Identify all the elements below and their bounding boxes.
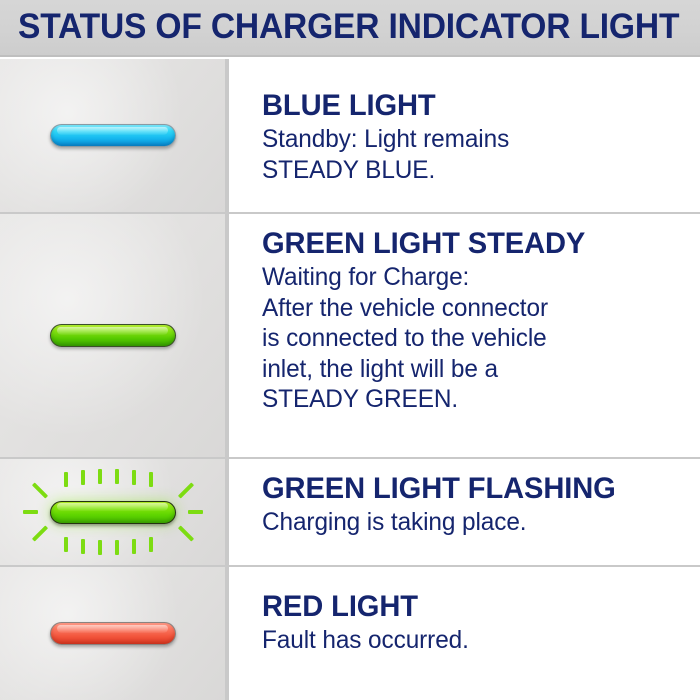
body-line: Standby: Light remains bbox=[262, 124, 675, 155]
description-cell-green-flashing: GREEN LIGHT FLASHING Charging is taking … bbox=[233, 459, 700, 565]
row-title: GREEN LIGHT STEADY bbox=[262, 228, 673, 259]
row-body: Standby: Light remains STEADY BLUE. bbox=[262, 124, 675, 185]
table-row: RED LIGHT Fault has occurred. bbox=[0, 567, 700, 700]
row-body: Waiting for Charge: After the vehicle co… bbox=[262, 262, 675, 415]
header-bar: STATUS OF CHARGER INDICATOR LIGHT bbox=[0, 0, 700, 57]
indicator-cell-green-steady bbox=[0, 214, 229, 457]
row-body: Fault has occurred. bbox=[262, 625, 675, 656]
body-line: Fault has occurred. bbox=[262, 625, 675, 656]
row-title: RED LIGHT bbox=[262, 591, 673, 622]
body-line: After the vehicle connector bbox=[262, 293, 675, 324]
led-wrap-blue bbox=[18, 90, 208, 182]
body-line: STEADY GREEN. bbox=[262, 384, 675, 415]
row-body: Charging is taking place. bbox=[262, 507, 675, 538]
body-line: Charging is taking place. bbox=[262, 507, 675, 538]
row-title: GREEN LIGHT FLASHING bbox=[262, 473, 673, 504]
description-cell-blue: BLUE LIGHT Standby: Light remains STEADY… bbox=[233, 59, 700, 212]
description-cell-green-steady: GREEN LIGHT STEADY Waiting for Charge: A… bbox=[233, 214, 700, 457]
green-flashing-led-icon bbox=[50, 501, 176, 524]
charger-indicator-status-infographic: STATUS OF CHARGER INDICATOR LIGHT BLUE L… bbox=[0, 0, 700, 700]
body-line: Waiting for Charge: bbox=[262, 262, 675, 293]
indicator-cell-blue bbox=[0, 59, 229, 212]
body-line: is connected to the vehicle bbox=[262, 323, 675, 354]
body-line: inlet, the light will be a bbox=[262, 354, 675, 385]
green-steady-led-icon bbox=[50, 324, 176, 347]
led-wrap-green-flashing bbox=[18, 466, 208, 558]
table-row: BLUE LIGHT Standby: Light remains STEADY… bbox=[0, 59, 700, 214]
body-line: STEADY BLUE. bbox=[262, 155, 675, 186]
indicator-cell-green-flashing bbox=[0, 459, 229, 565]
table-row: GREEN LIGHT FLASHING Charging is taking … bbox=[0, 459, 700, 567]
blue-steady-led-icon bbox=[50, 124, 176, 147]
led-wrap-green-steady bbox=[18, 290, 208, 382]
row-title: BLUE LIGHT bbox=[262, 90, 673, 121]
status-table: BLUE LIGHT Standby: Light remains STEADY… bbox=[0, 59, 700, 700]
page-title: STATUS OF CHARGER INDICATOR LIGHT bbox=[18, 7, 679, 47]
led-wrap-red bbox=[18, 588, 208, 680]
table-row: GREEN LIGHT STEADY Waiting for Charge: A… bbox=[0, 214, 700, 459]
indicator-cell-red bbox=[0, 567, 229, 700]
red-steady-led-icon bbox=[50, 622, 176, 645]
description-cell-red: RED LIGHT Fault has occurred. bbox=[233, 567, 700, 700]
